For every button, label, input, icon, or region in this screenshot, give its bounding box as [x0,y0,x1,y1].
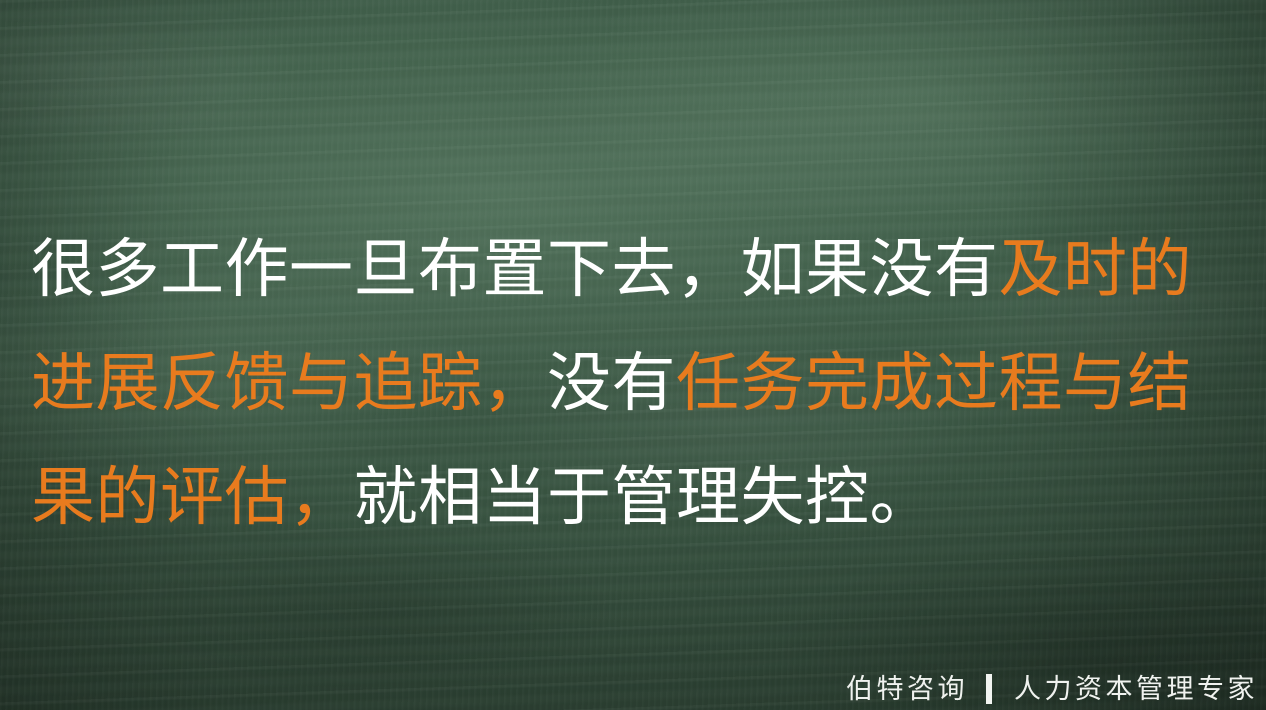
quote-segment-white: 没有 [547,347,676,419]
quote-segment-white: 就相当于管理失控。 [354,461,935,533]
quote-line-3: 果的评估，就相当于管理失控。 [31,440,1211,554]
quote-segment-white: 很多工作一旦布置下去，如果没有 [31,233,999,305]
quote-segment-accent: 任务完成过程与结 [676,347,1192,419]
quote-line-1: 很多工作一旦布置下去，如果没有及时的 [31,212,1211,326]
quote-segment-accent: 进展反馈与追踪， [31,347,547,419]
chalkboard-slide: 很多工作一旦布置下去，如果没有及时的 进展反馈与追踪，没有任务完成过程与结 果的… [0,0,1266,710]
footer-branding: 伯特咨询 人力资本管理专家 [846,674,1258,704]
footer-tagline: 人力资本管理专家 [1014,676,1258,703]
footer-divider-icon [986,674,992,704]
footer-brand-name: 伯特咨询 [846,676,968,703]
quote-segment-accent: 及时的 [999,233,1193,305]
quote-block: 很多工作一旦布置下去，如果没有及时的 进展反馈与追踪，没有任务完成过程与结 果的… [31,212,1211,554]
quote-line-2: 进展反馈与追踪，没有任务完成过程与结 [31,326,1211,440]
quote-segment-accent: 果的评估， [31,461,354,533]
